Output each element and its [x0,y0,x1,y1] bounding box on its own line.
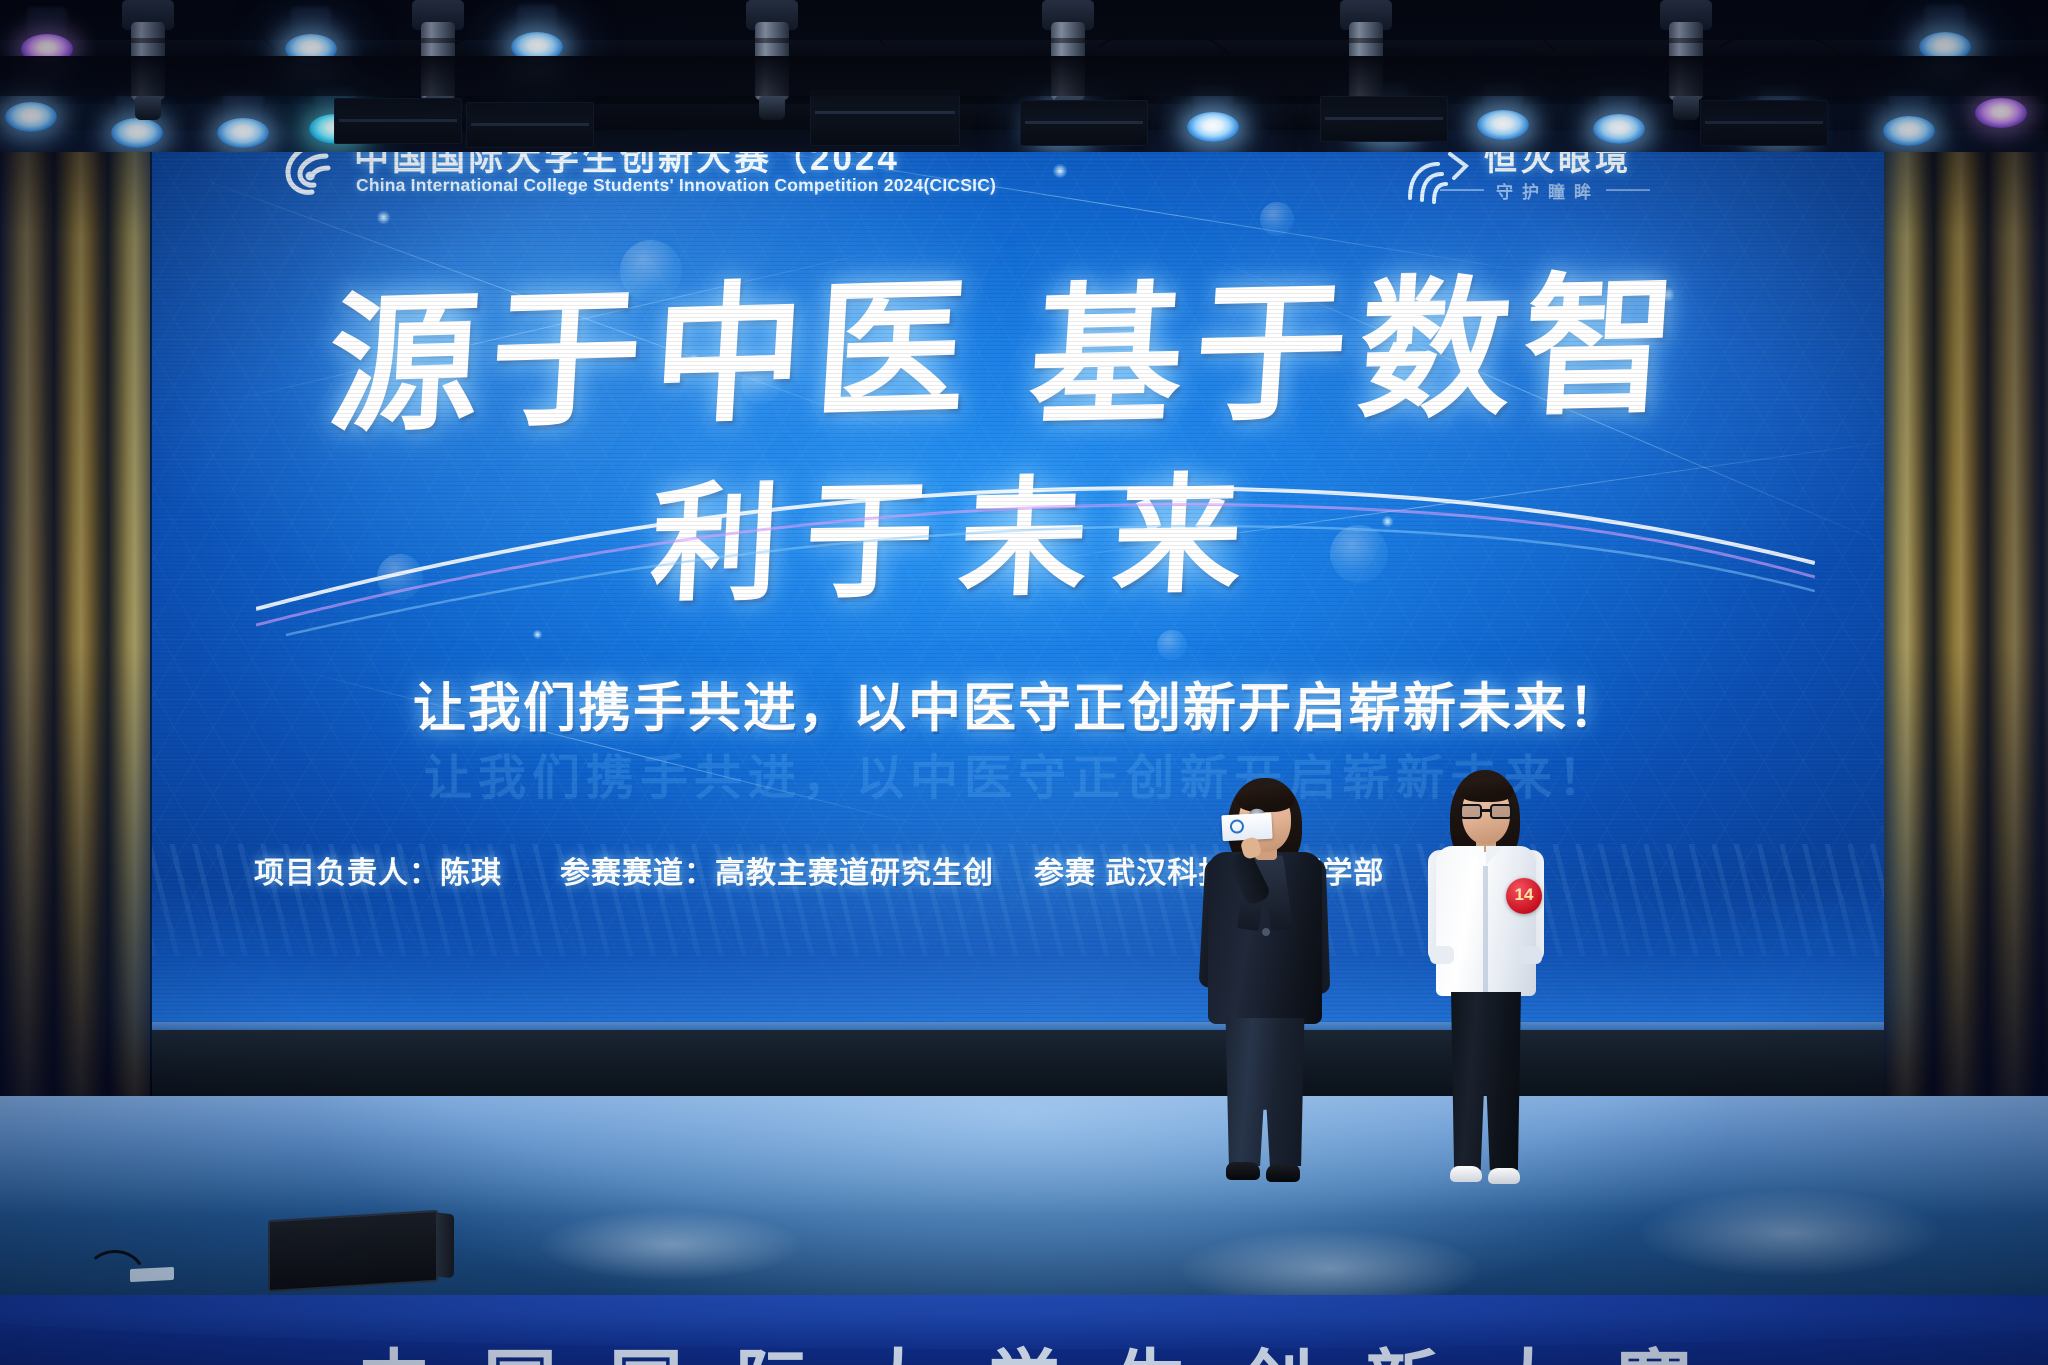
fixture-lens-barrel [135,96,161,120]
stage-curtain-right [1880,62,2048,1142]
led-scanlines [152,78,1884,1030]
glasses-bridge [1482,809,1490,812]
fixture-lens [5,102,57,132]
presenter-speaking [1200,778,1330,1198]
par-can-spotlight [214,90,272,152]
shoe-left [1226,1162,1260,1180]
contestant-number-badge: 14 [1506,878,1542,914]
par-can-spotlight [1880,88,1938,150]
blazer-button [1262,928,1270,936]
foreground-banner: 中国国际大学生创新大赛 [0,1295,2048,1365]
led-wash-panel [334,98,462,144]
led-wash-panel [466,102,594,148]
shirt-cuff-right [1518,946,1542,964]
fixture-lens-barrel [1673,96,1699,120]
led-wash-panel [1700,100,1828,146]
stage-riser-front [152,1030,1884,1102]
curtain-shading [0,62,150,1142]
led-wash-panel [1320,96,1448,142]
hair-front [1236,784,1294,812]
fixture-lens [1975,98,2027,128]
fixture-lens [217,118,269,148]
fixture-lens-barrel [759,96,785,120]
light-pool [540,1210,800,1280]
stage-monitor-speaker [268,1210,438,1292]
glasses-lens-right [1490,804,1512,819]
fixture-lens [1883,116,1935,146]
floor-power-socket [130,1267,174,1282]
led-wash-panel [810,90,960,146]
glasses-lens-left [1460,804,1482,819]
mic-flag-logo-icon [1230,819,1245,834]
light-pool [1640,1190,1940,1276]
fixture-lens [1187,112,1239,142]
hair-front [1459,778,1513,802]
fixture-lens [1593,114,1645,144]
shirt-placket [1483,866,1488,994]
speaker-grille [268,1210,438,1292]
shirt-cuff-left [1430,946,1454,964]
banner-title: 中国国际大学生创新大赛 [0,1325,2048,1365]
stage-scene: 中国国际大学生创新大赛（2024 China International Col… [0,0,2048,1365]
badge-number: 14 [1506,878,1542,914]
curtain-valance [0,56,2048,96]
stage-curtain-left [0,62,150,1142]
trousers [1224,1018,1306,1166]
presenter-standing: 14 [1420,770,1550,1210]
shoe-left [1450,1166,1482,1182]
fixture-lens [1477,110,1529,140]
shoe-right [1488,1168,1520,1184]
microphone-logo-flag [1221,813,1272,842]
speaker-side-panel [436,1212,454,1278]
shoe-right [1266,1164,1300,1182]
eyeglasses-icon [1460,804,1512,819]
curtain-shading [1880,62,2048,1142]
led-backdrop-screen: 中国国际大学生创新大赛（2024 China International Col… [152,78,1884,1030]
trousers [1448,992,1524,1170]
led-wash-panel [1020,100,1148,146]
